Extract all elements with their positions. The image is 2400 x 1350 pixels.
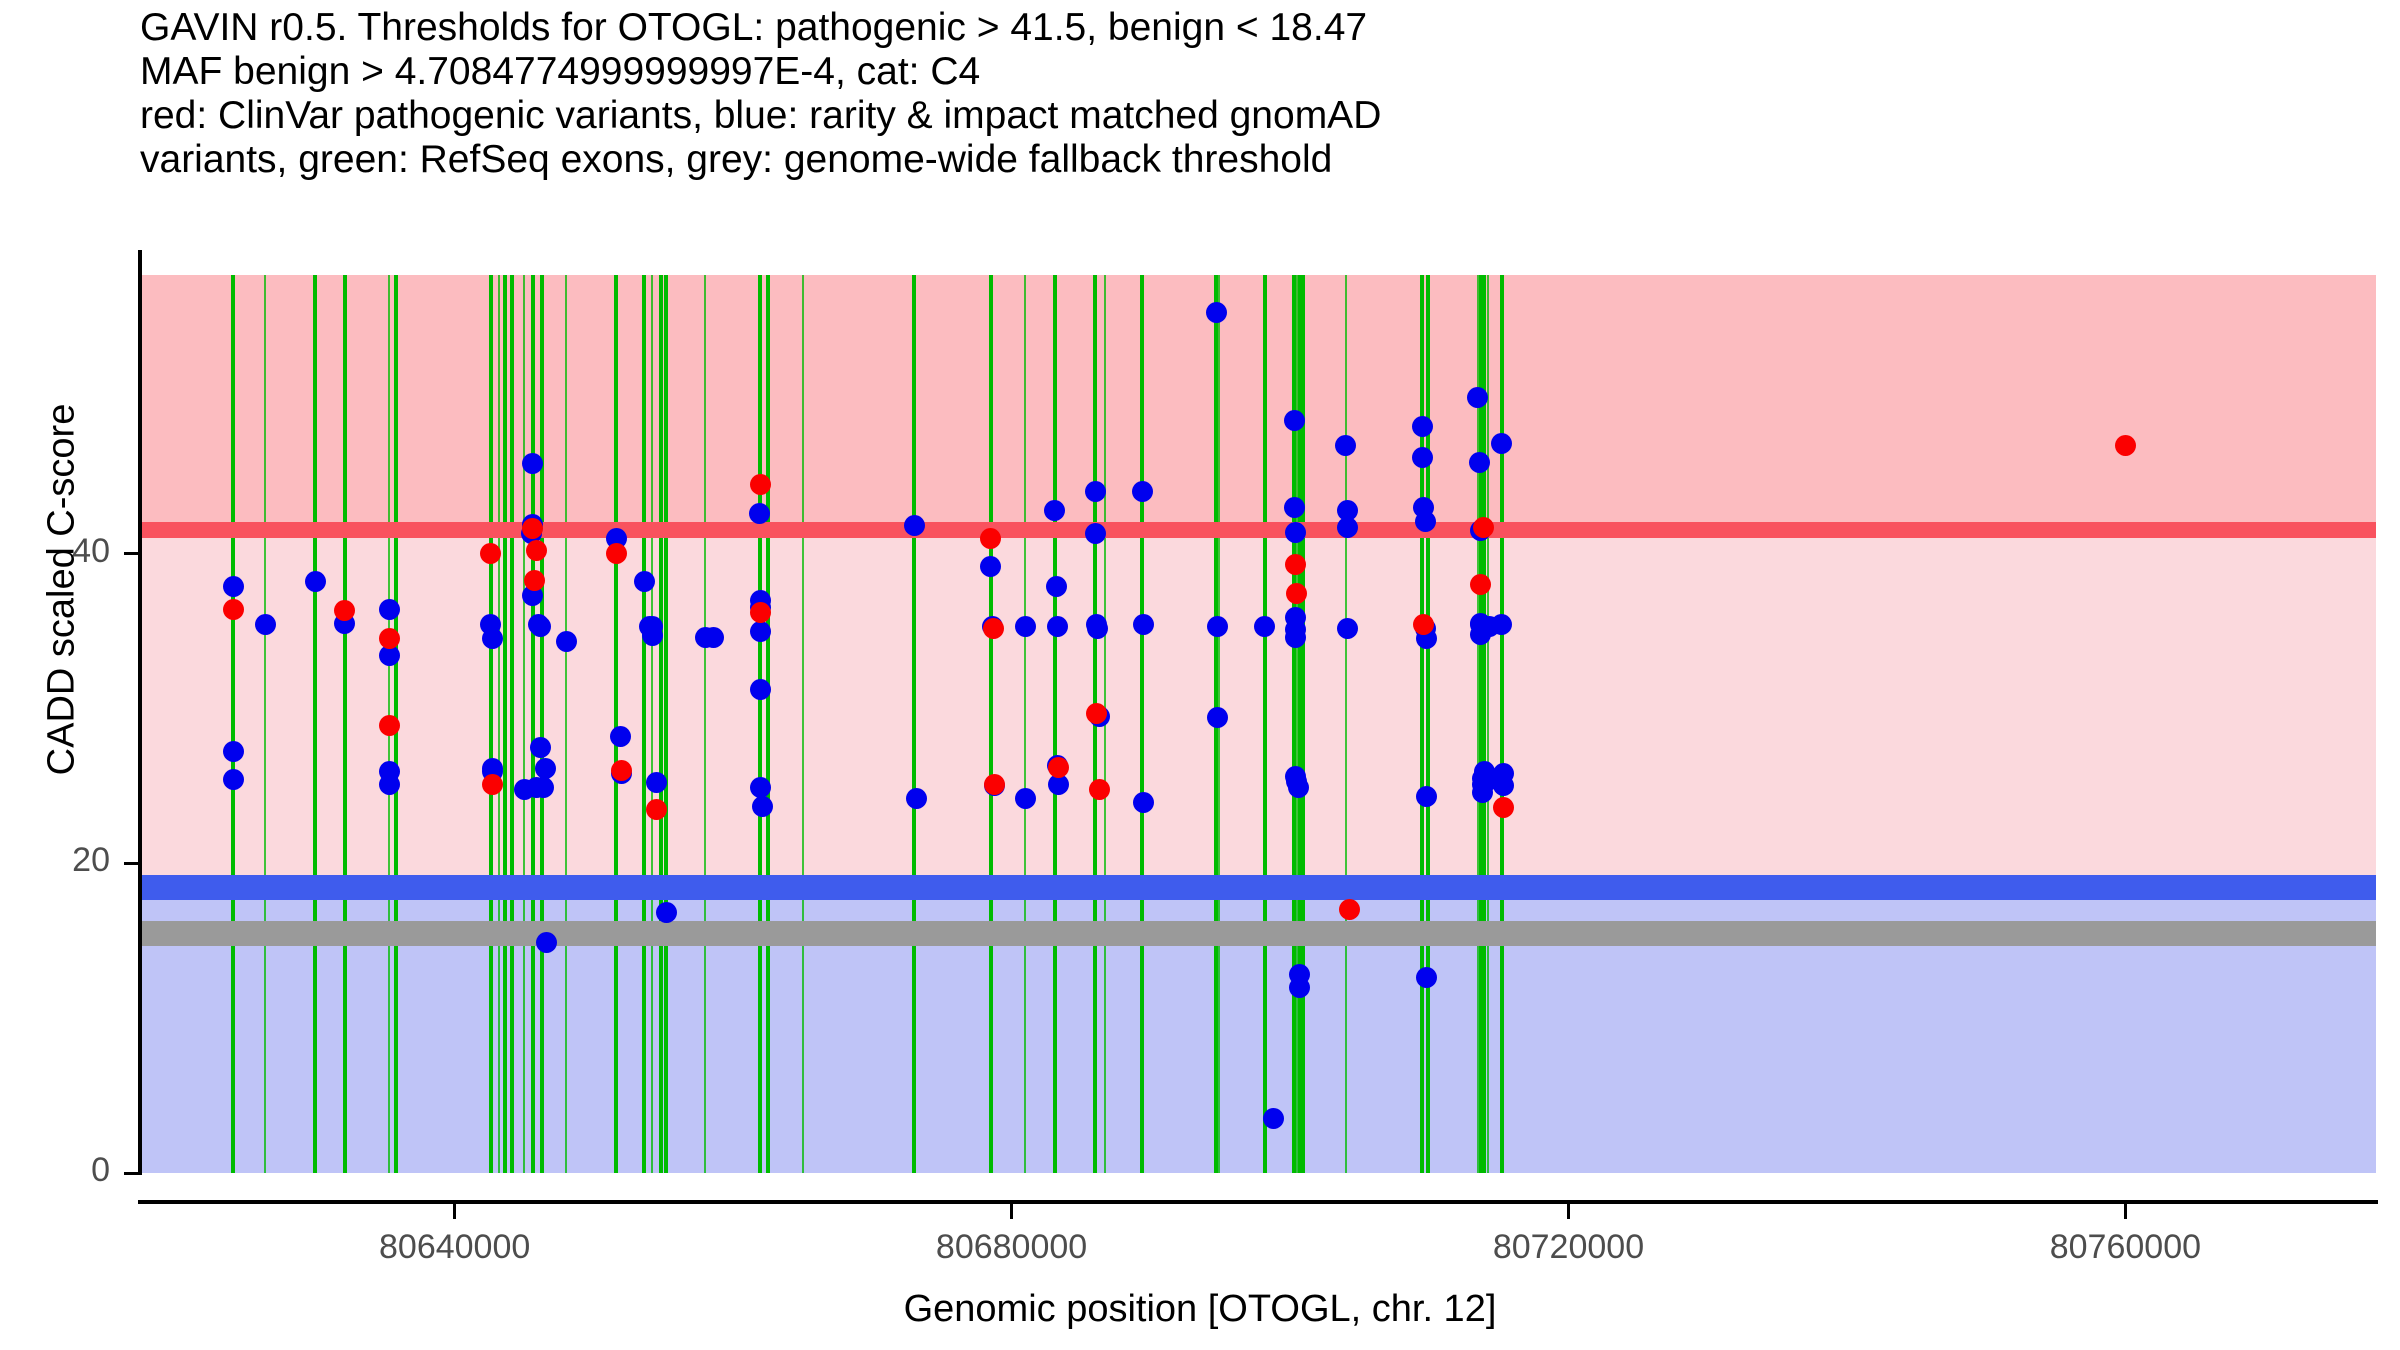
data-point-benign xyxy=(1412,447,1433,468)
title-line-1: GAVIN r0.5. Thresholds for OTOGL: pathog… xyxy=(140,6,2240,50)
data-point-benign xyxy=(749,503,770,524)
data-point-pathogenic xyxy=(379,628,400,649)
data-point-benign xyxy=(750,621,771,642)
exon-line xyxy=(758,275,762,1173)
y-tick-label: 0 xyxy=(91,1151,110,1190)
exon-line xyxy=(664,275,668,1173)
title-line-3: red: ClinVar pathogenic variants, blue: … xyxy=(140,94,2240,138)
x-tick-label: 80760000 xyxy=(2050,1228,2201,1267)
data-point-pathogenic xyxy=(2115,435,2136,456)
data-point-pathogenic xyxy=(750,474,771,495)
data-point-benign xyxy=(610,726,631,747)
region-pathogenic-upper xyxy=(140,275,2376,530)
exon-line xyxy=(1024,275,1026,1173)
exon-line xyxy=(659,275,663,1173)
data-point-benign xyxy=(223,741,244,762)
data-point-benign xyxy=(1015,788,1036,809)
data-point-benign xyxy=(1493,775,1514,796)
data-point-benign xyxy=(223,769,244,790)
exon-line xyxy=(642,275,646,1173)
pathogenic-threshold-line xyxy=(140,522,2376,538)
x-axis-title: Genomic position [OTOGL, chr. 12] xyxy=(0,1288,2400,1331)
exon-line xyxy=(1263,275,1267,1173)
exon-line xyxy=(1487,275,1489,1173)
fallback-threshold-line xyxy=(140,921,2376,946)
exon-line xyxy=(343,275,347,1173)
exon-line xyxy=(503,275,507,1173)
data-point-benign xyxy=(752,796,773,817)
data-point-benign xyxy=(556,631,577,652)
exon-line xyxy=(989,275,993,1173)
data-point-pathogenic xyxy=(983,618,1004,639)
data-point-benign xyxy=(703,627,724,648)
exon-line xyxy=(766,275,770,1173)
exon-line xyxy=(651,275,653,1173)
exon-line xyxy=(704,275,706,1173)
data-point-benign xyxy=(1335,435,1356,456)
exon-line xyxy=(1426,275,1430,1173)
data-point-pathogenic xyxy=(379,715,400,736)
exon-line xyxy=(912,275,916,1173)
data-point-benign xyxy=(1412,416,1433,437)
title-line-2: MAF benign > 4.7084774999999997E-4, cat:… xyxy=(140,50,2240,94)
data-point-benign xyxy=(1285,522,1306,543)
data-point-benign xyxy=(1284,410,1305,431)
exon-line xyxy=(1301,275,1305,1173)
data-point-benign xyxy=(305,571,326,592)
data-point-benign xyxy=(1415,511,1436,532)
data-point-pathogenic xyxy=(611,760,632,781)
data-point-benign xyxy=(536,932,557,953)
y-tick-mark xyxy=(124,1172,138,1175)
exon-line xyxy=(531,275,535,1173)
x-tick-mark xyxy=(453,1204,456,1219)
chart-title-block: GAVIN r0.5. Thresholds for OTOGL: pathog… xyxy=(140,6,2240,182)
data-point-pathogenic xyxy=(606,543,627,564)
x-tick-mark xyxy=(1010,1204,1013,1219)
x-tick-label: 80720000 xyxy=(1493,1228,1644,1267)
benign-threshold-line xyxy=(140,875,2376,900)
exon-line xyxy=(264,275,266,1173)
exon-line xyxy=(565,275,567,1173)
exon-line xyxy=(540,275,544,1173)
data-point-pathogenic xyxy=(1473,517,1494,538)
exon-line xyxy=(489,275,493,1173)
data-point-benign xyxy=(1207,616,1228,637)
region-pathogenic-lower xyxy=(140,530,2376,887)
exon-line xyxy=(1482,275,1486,1173)
data-point-benign xyxy=(379,774,400,795)
data-point-pathogenic xyxy=(1493,797,1514,818)
data-point-benign xyxy=(1263,1108,1284,1129)
exon-line xyxy=(1140,275,1144,1173)
exon-line xyxy=(1345,275,1347,1173)
y-axis-title: CADD scaled C-score xyxy=(41,210,84,970)
data-point-benign xyxy=(1044,500,1065,521)
data-point-benign xyxy=(223,576,244,597)
exon-line xyxy=(1420,275,1424,1173)
data-point-benign xyxy=(980,556,1001,577)
chart-page: GAVIN r0.5. Thresholds for OTOGL: pathog… xyxy=(0,0,2400,1350)
exon-line xyxy=(231,275,235,1173)
data-point-pathogenic xyxy=(524,570,545,591)
data-point-benign xyxy=(1288,777,1309,798)
data-point-benign xyxy=(1206,302,1227,323)
exon-line xyxy=(614,275,618,1173)
x-tick-label: 80680000 xyxy=(936,1228,1087,1267)
data-point-benign xyxy=(1337,517,1358,538)
data-point-pathogenic xyxy=(980,528,1001,549)
exon-line xyxy=(1500,275,1504,1173)
exon-line xyxy=(313,275,317,1173)
y-axis-line xyxy=(138,250,142,1175)
x-tick-label: 80640000 xyxy=(379,1228,530,1267)
plot-area xyxy=(140,275,2376,1173)
exon-line xyxy=(510,275,514,1173)
data-point-benign xyxy=(1284,497,1305,518)
data-point-benign xyxy=(482,628,503,649)
data-point-pathogenic xyxy=(223,599,244,620)
data-point-benign xyxy=(1085,481,1106,502)
data-point-benign xyxy=(904,515,925,536)
data-point-benign xyxy=(1285,627,1306,648)
data-point-benign xyxy=(1046,576,1067,597)
data-point-pathogenic xyxy=(1285,554,1306,575)
x-axis-line xyxy=(138,1200,2378,1204)
data-point-benign xyxy=(1015,616,1036,637)
data-point-pathogenic xyxy=(1086,703,1107,724)
data-point-pathogenic xyxy=(646,799,667,820)
title-line-4: variants, green: RefSeq exons, grey: gen… xyxy=(140,138,2240,182)
y-tick-mark xyxy=(124,862,138,865)
data-point-benign xyxy=(1337,618,1358,639)
exon-line xyxy=(802,275,804,1173)
data-point-benign xyxy=(1085,523,1106,544)
exon-line xyxy=(523,275,525,1173)
data-point-benign xyxy=(1289,977,1310,998)
data-point-benign xyxy=(1047,616,1068,637)
x-tick-mark xyxy=(1567,1204,1570,1219)
data-point-benign xyxy=(634,571,655,592)
data-point-benign xyxy=(379,599,400,620)
x-tick-mark xyxy=(2124,1204,2127,1219)
data-point-benign xyxy=(1469,452,1490,473)
exon-line xyxy=(498,275,500,1173)
data-point-benign xyxy=(1087,618,1108,639)
data-point-pathogenic xyxy=(482,774,503,795)
y-tick-mark xyxy=(124,552,138,555)
exon-line xyxy=(1053,275,1057,1173)
data-point-pathogenic xyxy=(1089,779,1110,800)
data-point-benign xyxy=(642,625,663,646)
